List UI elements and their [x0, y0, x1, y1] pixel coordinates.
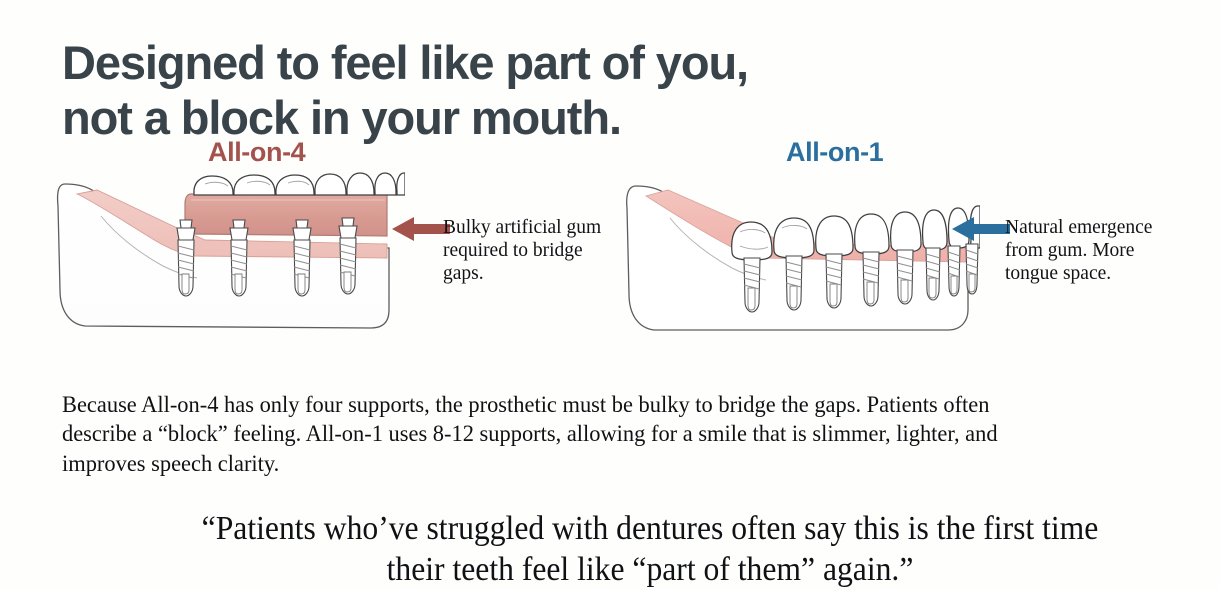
all-on-1-title: All-on-1 — [786, 137, 883, 168]
pull-quote: “Patients who’ve struggled with dentures… — [185, 508, 1115, 590]
all-on-4-title: All-on-4 — [208, 137, 305, 168]
implant-2-left — [230, 220, 248, 296]
implant-1-left — [177, 220, 195, 296]
headline-line-1: Designed to feel like part of you, — [62, 36, 748, 89]
body-paragraph: Because All-on-4 has only four supports,… — [62, 391, 1060, 480]
page-title: Designed to feel like part of you, not a… — [62, 35, 962, 145]
implant-2-right — [786, 256, 802, 310]
left-pointing-arrow-icon-blue — [952, 214, 1010, 244]
all-on-1-callout-text: Natural emergence from gum. More tongue … — [1005, 216, 1190, 285]
all-on-4-illustration — [55, 170, 405, 350]
implant-8-right — [966, 244, 978, 294]
implant-3-left — [293, 220, 311, 296]
implant-4-left — [339, 218, 357, 294]
implant-3-right — [826, 254, 842, 308]
left-pointing-arrow-icon-red — [392, 214, 450, 244]
implant-5-right — [897, 250, 913, 304]
infographic-page: Designed to feel like part of you, not a… — [0, 0, 1220, 570]
all-on-1-illustration — [622, 170, 980, 350]
all-on-4-callout-text: Bulky artificial gum required to bridge … — [443, 216, 603, 285]
implant-6-right — [926, 248, 940, 300]
implant-1-right — [744, 258, 760, 312]
implant-4-right — [863, 252, 879, 306]
implant-7-right — [948, 246, 960, 296]
